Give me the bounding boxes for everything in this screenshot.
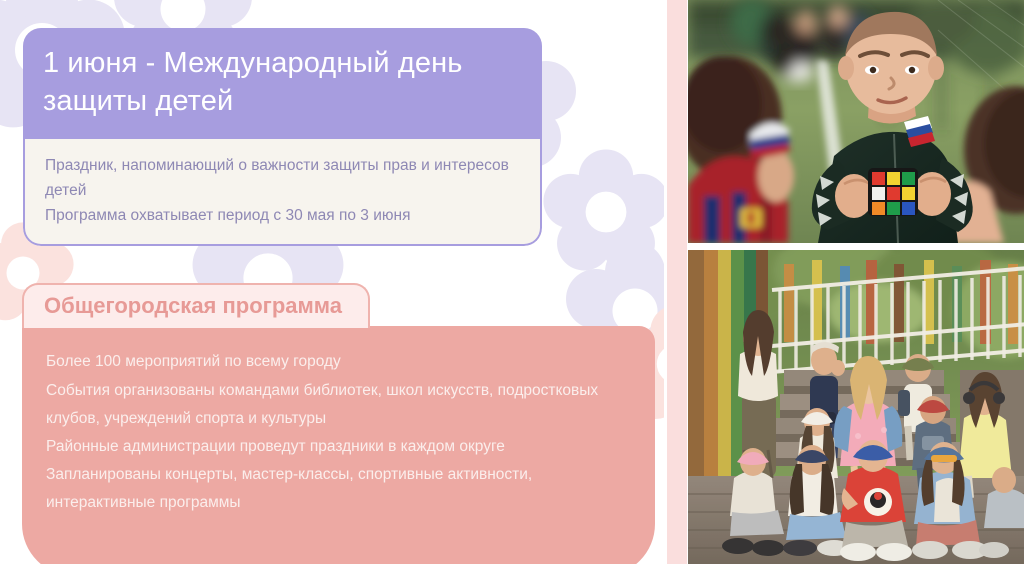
programme-line-4: Запланированы концерты, мастер-классы, с… bbox=[46, 461, 631, 517]
intro-line-1: Праздник, напоминающий о важности защиты… bbox=[45, 153, 520, 203]
intro-card-body: Праздник, напоминающий о важности защиты… bbox=[23, 139, 542, 246]
photo-boy-with-rubiks-cube bbox=[688, 0, 1024, 243]
intro-line-2: Программа охватывает период с 30 мая по … bbox=[45, 203, 520, 228]
photo-column bbox=[664, 0, 1024, 564]
left-content-column: 1 июня - Международный день защиты детей… bbox=[0, 0, 664, 564]
programme-line-2: События организованы командами библиотек… bbox=[46, 377, 631, 433]
programme-line-3: Районные администрации проведут праздник… bbox=[46, 433, 631, 461]
photo-gutter-strip bbox=[667, 0, 687, 564]
programme-tab-label: Общегородская программа bbox=[44, 293, 342, 319]
programme-panel: Более 100 мероприятий по всему городу Со… bbox=[22, 326, 655, 564]
programme-block: Общегородская программа Более 100 меропр… bbox=[22, 283, 655, 564]
intro-card-header: 1 июня - Международный день защиты детей bbox=[23, 28, 542, 139]
programme-tab: Общегородская программа bbox=[22, 283, 370, 328]
intro-card: 1 июня - Международный день защиты детей… bbox=[23, 28, 542, 246]
slide-root: 1 июня - Международный день защиты детей… bbox=[0, 0, 1024, 564]
programme-line-1: Более 100 мероприятий по всему городу bbox=[46, 348, 631, 376]
page-title: 1 июня - Международный день защиты детей bbox=[43, 44, 522, 121]
photo-children-group-on-steps bbox=[688, 250, 1024, 564]
